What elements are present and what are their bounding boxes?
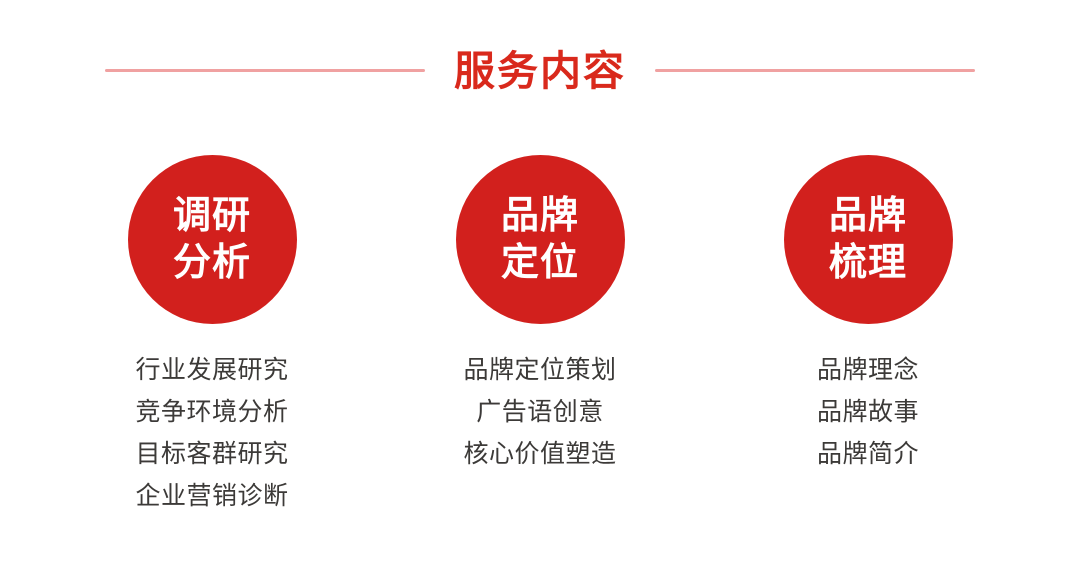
list-item: 品牌故事 <box>817 391 919 433</box>
service-circle-2-line2: 定位 <box>501 240 579 287</box>
list-item: 行业发展研究 <box>135 349 288 391</box>
service-column-2: 品牌 定位 品牌定位策划 广告语创意 核心价值塑造 <box>400 155 680 475</box>
service-circle-3-line1: 品牌 <box>829 193 907 240</box>
list-item: 品牌定位策划 <box>463 349 616 391</box>
service-item-list-1: 行业发展研究 竞争环境分析 目标客群研究 企业营销诊断 <box>135 349 288 517</box>
service-item-list-2: 品牌定位策划 广告语创意 核心价值塑造 <box>463 349 616 475</box>
service-circle-1[interactable]: 调研 分析 <box>128 155 297 324</box>
service-columns: 调研 分析 行业发展研究 竞争环境分析 目标客群研究 企业营销诊断 品牌 定位 … <box>0 155 1080 555</box>
service-column-1: 调研 分析 行业发展研究 竞争环境分析 目标客群研究 企业营销诊断 <box>72 155 352 517</box>
list-item: 品牌简介 <box>817 433 919 475</box>
service-circle-3[interactable]: 品牌 梳理 <box>784 155 953 324</box>
service-circle-2-line1: 品牌 <box>501 193 579 240</box>
list-item: 目标客群研究 <box>135 433 288 475</box>
service-circle-1-line1: 调研 <box>173 193 251 240</box>
service-circle-1-line2: 分析 <box>173 240 251 287</box>
service-circle-3-line2: 梳理 <box>829 240 907 287</box>
list-item: 广告语创意 <box>476 391 604 433</box>
list-item: 企业营销诊断 <box>135 475 288 517</box>
service-column-3: 品牌 梳理 品牌理念 品牌故事 品牌简介 <box>728 155 1008 475</box>
service-item-list-3: 品牌理念 品牌故事 品牌简介 <box>817 349 919 475</box>
list-item: 竞争环境分析 <box>135 391 288 433</box>
service-circle-2[interactable]: 品牌 定位 <box>456 155 625 324</box>
list-item: 核心价值塑造 <box>463 433 616 475</box>
list-item: 品牌理念 <box>817 349 919 391</box>
page-header: 服务内容 <box>0 0 1080 140</box>
page-title: 服务内容 <box>0 46 1080 96</box>
